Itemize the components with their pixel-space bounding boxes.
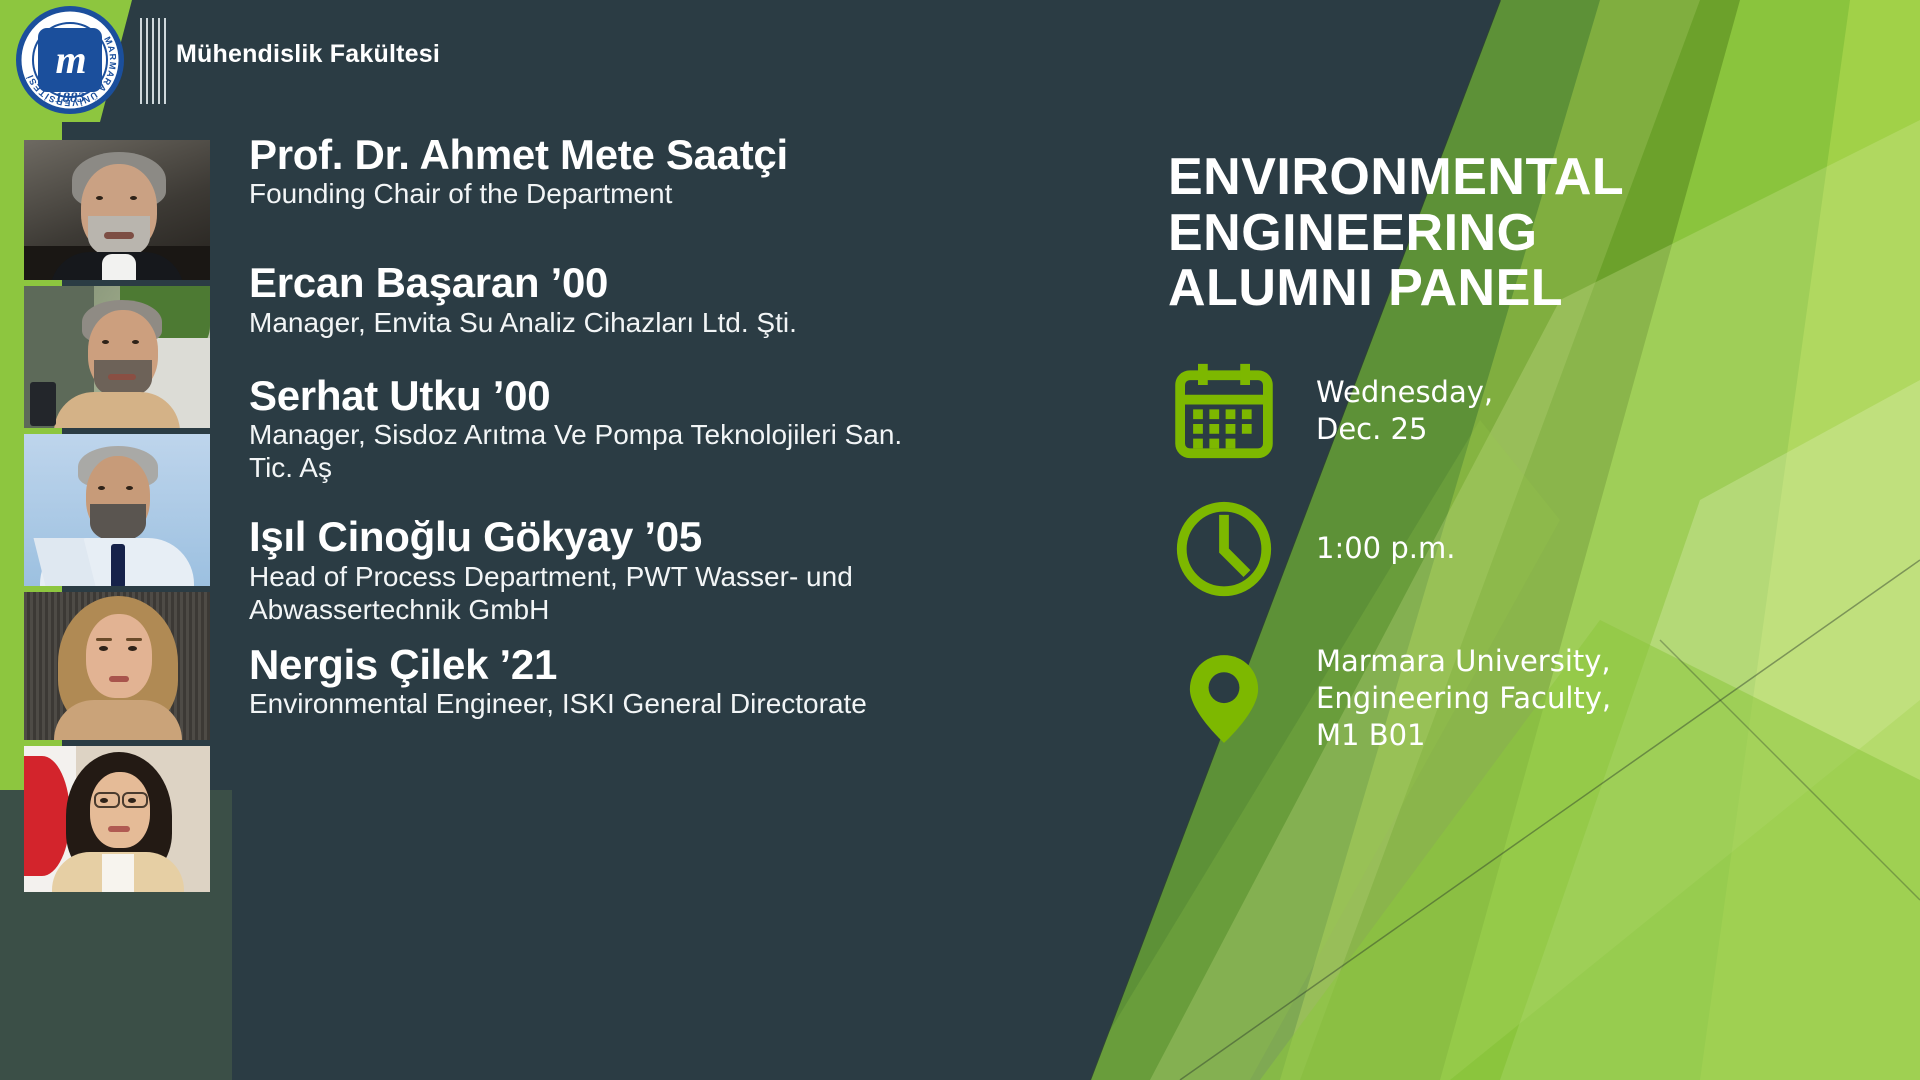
event-date-text: Wednesday, Dec. 25 xyxy=(1316,374,1493,448)
speaker-role-5: Environmental Engineer, ISKI General Dir… xyxy=(249,687,949,720)
event-title-line-1: ENVIRONMENTAL xyxy=(1168,150,1768,206)
logo-monogram: m xyxy=(38,28,102,92)
speaker-list: Prof. Dr. Ahmet Mete Saatçi Founding Cha… xyxy=(249,132,949,722)
speaker-role-2: Manager, Envita Su Analiz Cihazları Ltd.… xyxy=(249,306,949,339)
speaker-entry-1: Prof. Dr. Ahmet Mete Saatçi Founding Cha… xyxy=(249,132,949,210)
speaker-entry-5: Nergis Çilek ’21 Environmental Engineer,… xyxy=(249,642,949,720)
event-time-line-1: 1:00 p.m. xyxy=(1316,530,1455,567)
speaker-name-2: Ercan Başaran ’00 xyxy=(249,260,949,305)
event-time-text: 1:00 p.m. xyxy=(1316,530,1455,567)
speaker-photo-column xyxy=(24,140,210,892)
event-location-line-3: M1 B01 xyxy=(1316,717,1611,754)
header-bar: MARMARA ÜNİVERSİTESİ m 1883 Mühendislik … xyxy=(0,0,1920,122)
marmara-university-seal-icon: MARMARA ÜNİVERSİTESİ m 1883 xyxy=(16,6,124,114)
speaker-role-4: Head of Process Department, PWT Wasser- … xyxy=(249,560,949,626)
speaker-entry-3: Serhat Utku ’00 Manager, Sisdoz Arıtma V… xyxy=(249,373,949,484)
logo-monogram-letter: m xyxy=(55,40,84,80)
event-title-line-3: ALUMNI PANEL xyxy=(1168,261,1768,317)
logo-founding-year: 1883 xyxy=(16,90,124,107)
speaker-photo-2 xyxy=(24,286,210,428)
event-detail-location: Marmara University, Engineering Faculty,… xyxy=(1168,643,1768,754)
speaker-entry-2: Ercan Başaran ’00 Manager, Envita Su Ana… xyxy=(249,260,949,338)
speaker-name-4: Işıl Cinoğlu Gökyay ’05 xyxy=(249,514,949,559)
calendar-icon xyxy=(1168,359,1280,463)
speaker-role-1: Founding Chair of the Department xyxy=(249,177,949,210)
location-pin-icon xyxy=(1168,647,1280,751)
speaker-name-5: Nergis Çilek ’21 xyxy=(249,642,949,687)
event-date-line-2: Dec. 25 xyxy=(1316,411,1493,448)
event-location-line-1: Marmara University, xyxy=(1316,643,1611,680)
speaker-photo-5 xyxy=(24,746,210,892)
speaker-photo-3 xyxy=(24,434,210,586)
speaker-entry-4: Işıl Cinoğlu Gökyay ’05 Head of Process … xyxy=(249,514,949,625)
faculty-name: Mühendislik Fakültesi xyxy=(176,40,440,69)
event-title: ENVIRONMENTAL ENGINEERING ALUMNI PANEL xyxy=(1168,150,1768,317)
vertical-bars-icon xyxy=(140,18,166,104)
clock-icon xyxy=(1168,497,1280,601)
event-details: Wednesday, Dec. 25 1:00 p.m. xyxy=(1168,359,1768,754)
speaker-role-3: Manager, Sisdoz Arıtma Ve Pompa Teknoloj… xyxy=(249,418,939,484)
event-date-line-1: Wednesday, xyxy=(1316,374,1493,411)
event-detail-date: Wednesday, Dec. 25 xyxy=(1168,359,1768,463)
poster-canvas: MARMARA ÜNİVERSİTESİ m 1883 Mühendislik … xyxy=(0,0,1920,1080)
event-location-line-2: Engineering Faculty, xyxy=(1316,680,1611,717)
event-panel: ENVIRONMENTAL ENGINEERING ALUMNI PANEL xyxy=(1168,150,1768,788)
speaker-photo-4 xyxy=(24,592,210,740)
speaker-name-3: Serhat Utku ’00 xyxy=(249,373,949,418)
speaker-name-1: Prof. Dr. Ahmet Mete Saatçi xyxy=(249,132,949,177)
event-detail-time: 1:00 p.m. xyxy=(1168,497,1768,601)
event-title-line-2: ENGINEERING xyxy=(1168,206,1768,262)
speaker-photo-1 xyxy=(24,140,210,280)
event-location-text: Marmara University, Engineering Faculty,… xyxy=(1316,643,1611,754)
